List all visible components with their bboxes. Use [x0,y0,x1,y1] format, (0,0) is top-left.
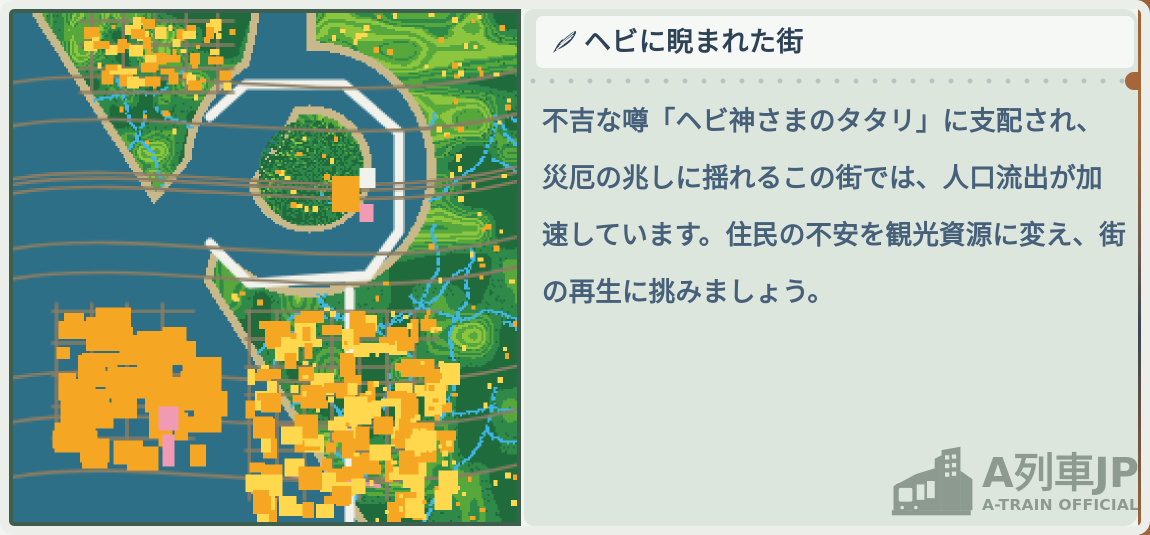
train-building-logo-icon [890,445,976,517]
brand-subtitle: A-TRAIN OFFICIAL SITE [982,496,1138,515]
page-edge-strip [1138,0,1150,535]
feather-quill-icon [550,27,580,57]
brand-logo[interactable]: A列車JP A-TRAIN OFFICIAL SITE [890,439,1126,517]
brand-logo-text: A列車JP A-TRAIN OFFICIAL SITE [982,454,1138,517]
game-map-image [13,13,517,522]
scenario-title-card: ヘビに睨まれた街 [536,16,1134,68]
dotted-separator [530,75,1134,87]
scenario-description: 不吉な噂「ヘビ神さまのタタリ」に支配され、災厄の兆しに揺れるこの街では、人口流出… [542,93,1128,321]
scenario-title-text: ヘビに睨まれた街 [584,29,804,56]
game-map-panel[interactable] [9,9,521,526]
promo-card-page: ヘビに睨まれた街 不吉な噂「ヘビ神さまのタタリ」に支配され、災厄の兆しに揺れるこ… [0,0,1150,535]
separator-end-dot [1125,72,1138,90]
brand-title: A列車JP [982,454,1138,494]
scenario-info-panel: ヘビに睨まれた街 不吉な噂「ヘビ神さまのタタリ」に支配され、災厄の兆しに揺れるこ… [524,9,1138,526]
